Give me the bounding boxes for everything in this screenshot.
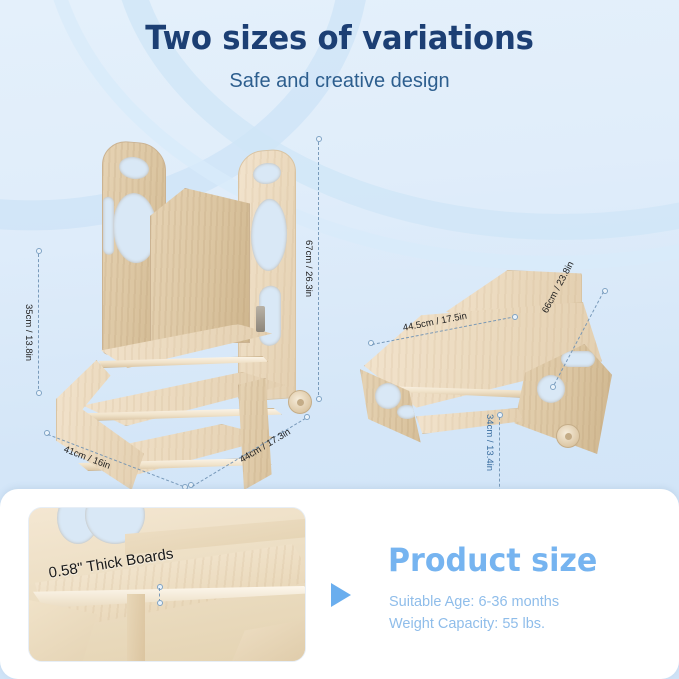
product-stage: 35cm / 13.8in 67cm / 26.3in 41cm / 16in … bbox=[0, 118, 679, 498]
chair-circle-cutout-left bbox=[375, 383, 401, 409]
product-size-title: Product size bbox=[388, 541, 597, 579]
tower-handle-hole-back bbox=[119, 156, 149, 181]
product-size-line-age: Suitable Age: 6-36 months bbox=[389, 594, 559, 610]
thickness-dot-bottom bbox=[157, 600, 163, 606]
chair-wheel-hub bbox=[565, 433, 572, 440]
tower-back-wall bbox=[150, 188, 250, 343]
page-subtitle: Safe and creative design bbox=[0, 70, 679, 93]
product-size-line-weight: Weight Capacity: 55 lbs. bbox=[389, 616, 545, 632]
tower-handle-hole-front bbox=[253, 162, 281, 185]
chair-cross-rail bbox=[416, 408, 524, 434]
header: Two sizes of variations Safe and creativ… bbox=[0, 18, 679, 93]
tower-latch-hardware bbox=[256, 306, 265, 332]
thickness-dot-top bbox=[157, 584, 163, 590]
photo-vertical-support bbox=[127, 594, 145, 662]
page-title: Two sizes of variations bbox=[24, 18, 655, 57]
chair-oval-cutout-left bbox=[397, 405, 417, 419]
tower-oval-hole-front-large bbox=[251, 198, 287, 273]
play-triangle-icon bbox=[331, 583, 351, 607]
tower-slot-hole-back bbox=[103, 196, 114, 255]
tower-wheel-hub bbox=[297, 399, 304, 406]
detail-photo-thick-board bbox=[28, 507, 306, 662]
